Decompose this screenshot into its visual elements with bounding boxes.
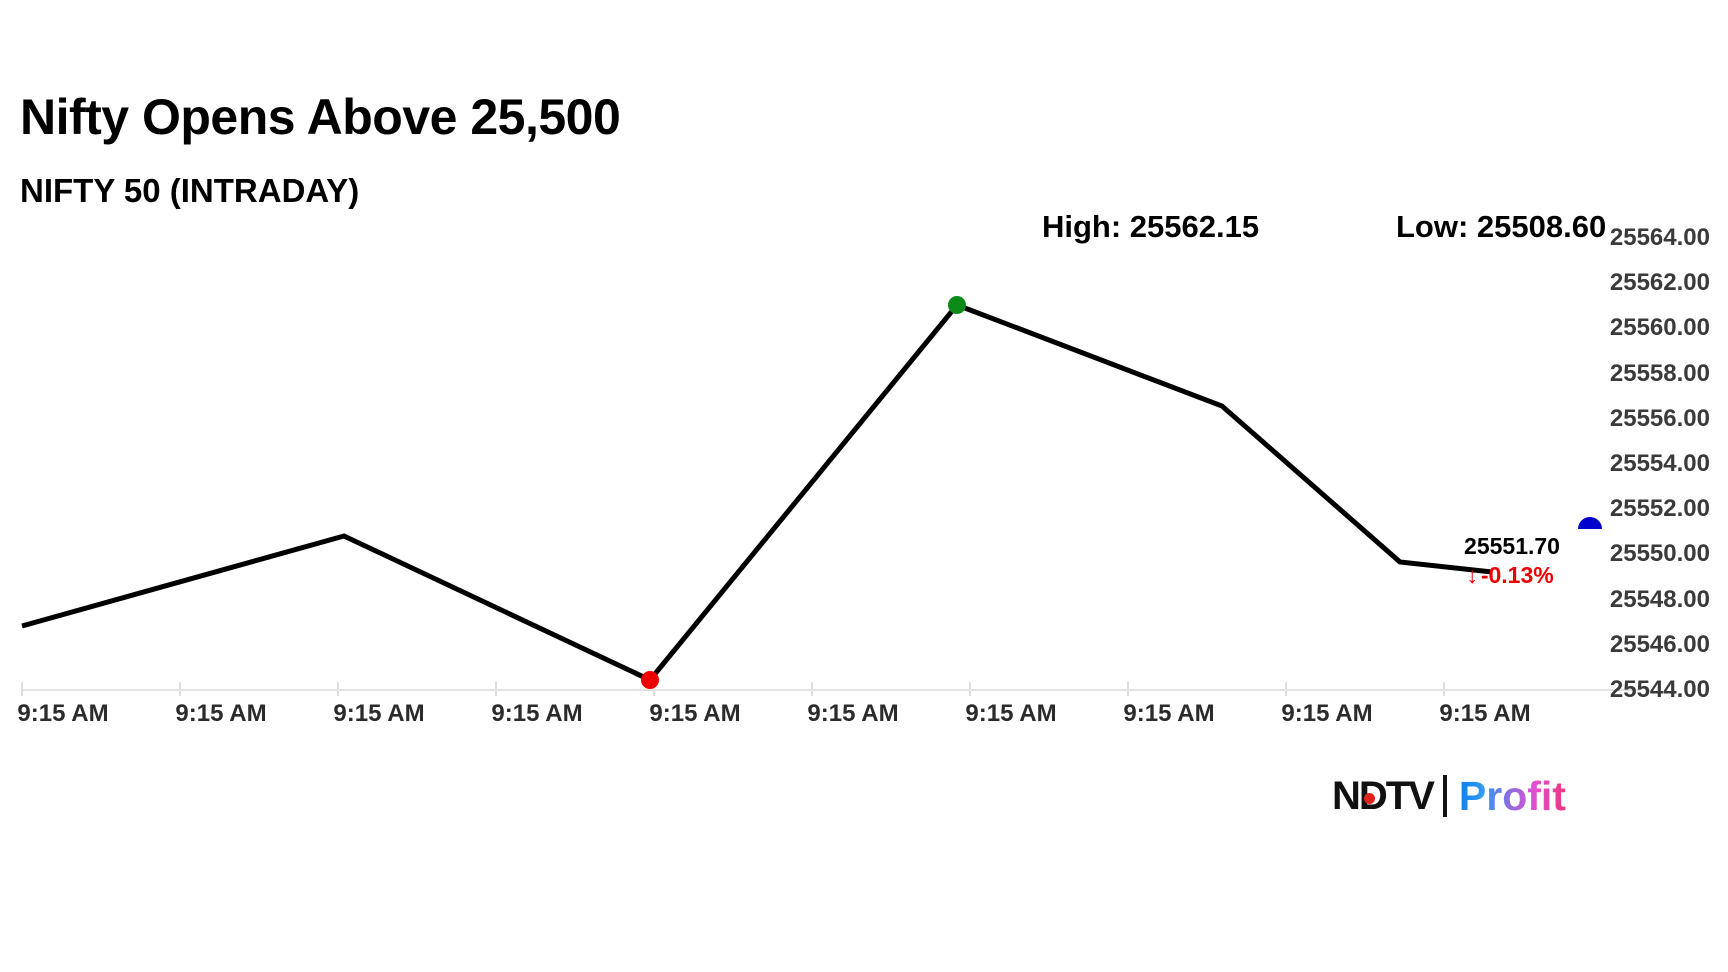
y-axis-tick-label: 25556.00 (1560, 405, 1710, 433)
y-axis-tick-label: 25548.00 (1560, 586, 1710, 614)
x-axis-tick-label: 9:15 AM (333, 700, 424, 728)
x-axis-tick-label: 9:15 AM (491, 700, 582, 728)
ndtv-text: NDTV (1332, 774, 1433, 818)
change-percent-value: -0.13% (1481, 562, 1554, 588)
logo-divider (1443, 775, 1447, 817)
x-axis-tick-label: 9:15 AM (1281, 700, 1372, 728)
ndtv-wordmark: NDTV (1332, 776, 1433, 816)
x-axis-tick-label: 9:15 AM (965, 700, 1056, 728)
y-axis-tick-label: 25544.00 (1560, 676, 1710, 704)
y-axis-tick-label: 25564.00 (1560, 224, 1710, 252)
ndtv-red-dot-icon (1364, 793, 1375, 804)
chart-card: Nifty Opens Above 25,500 NIFTY 50 (INTRA… (0, 0, 1728, 972)
ndtv-profit-logo: NDTV Profit (1332, 772, 1566, 820)
y-axis-tick-label: 25558.00 (1560, 360, 1710, 388)
x-axis-tick-label: 9:15 AM (1123, 700, 1214, 728)
arrow-down-icon: ↓ (1466, 562, 1478, 589)
y-axis-tick-label: 25546.00 (1560, 631, 1710, 659)
low-marker (641, 671, 659, 689)
x-axis-tick-label: 9:15 AM (17, 700, 108, 728)
y-axis-tick-label: 25550.00 (1560, 540, 1710, 568)
y-axis-tick-label: 25560.00 (1560, 314, 1710, 342)
price-series-line (22, 305, 1492, 680)
high-marker (948, 296, 966, 314)
profit-wordmark: Profit (1459, 776, 1566, 817)
y-axis-tick-label: 25562.00 (1560, 269, 1710, 297)
y-axis-tick-label: 25552.00 (1560, 495, 1710, 523)
x-axis-tick-label: 9:15 AM (175, 700, 266, 728)
x-axis-tick-label: 9:15 AM (1439, 700, 1530, 728)
y-axis-tick-label: 25554.00 (1560, 450, 1710, 478)
last-price-change: ↓-0.13% (1466, 562, 1553, 589)
x-axis-tick-label: 9:15 AM (649, 700, 740, 728)
x-axis-tick-label: 9:15 AM (807, 700, 898, 728)
last-price-value: 25551.70 (1464, 533, 1560, 560)
intraday-line-chart (0, 0, 1728, 972)
